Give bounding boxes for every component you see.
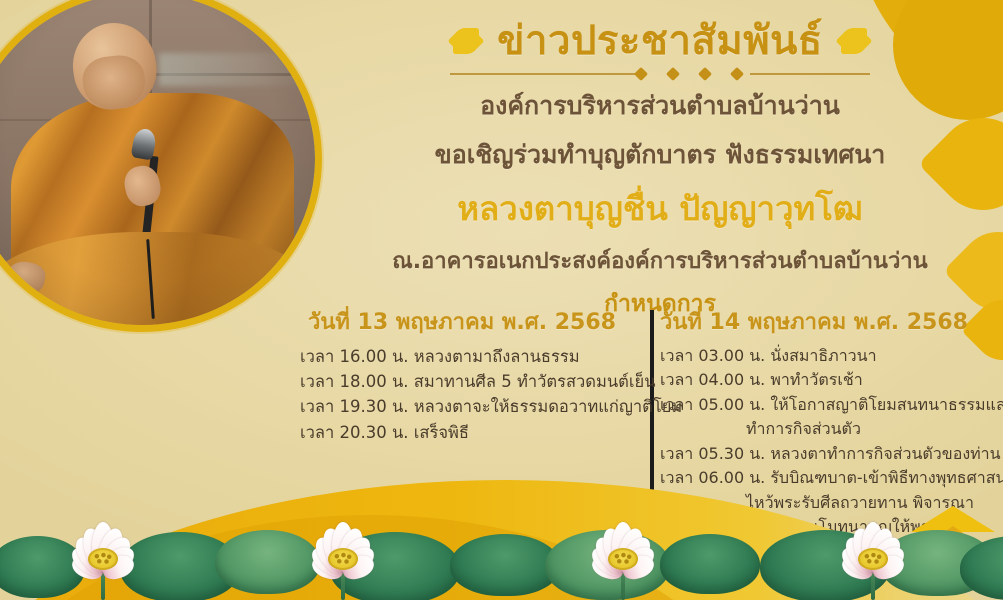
divider-diamond xyxy=(698,67,712,81)
flower-ornament-icon-left xyxy=(451,26,481,56)
schedule-item: เวลา 05.00 น. ให้โอกาสญาติโยมสนทนาธรรมแล… xyxy=(660,393,1000,417)
lotus-flower xyxy=(300,504,386,578)
lotus-flower xyxy=(60,504,146,578)
poster-header: ข่าวประชาสัมพันธ์ องค์การบริหารส่วนตำบลบ… xyxy=(330,18,990,322)
venue-text: ณ.อาคารอเนกประสงค์องค์การบริหารส่วนตำบลบ… xyxy=(330,246,990,277)
divider-diamond xyxy=(634,67,648,81)
schedule-item: เวลา 20.30 น. เสร็จพิธี xyxy=(300,420,645,445)
lotus-seed-pod xyxy=(88,548,118,570)
schedule-item: เวลา 18.00 น. สมาทานศีล 5 ทำวัตรสวดมนต์เ… xyxy=(300,369,645,394)
monk-name: หลวงตาบุญชื่น ปัญญาวุทโฒ xyxy=(330,182,990,235)
schedule-item: เวลา 19.30 น. หลวงตาจะให้ธรรมดอวาทแก่ญาต… xyxy=(300,394,645,419)
schedule-item: เวลา 05.30 น. หลวงตาทำการกิจส่วนตัวของท่… xyxy=(660,442,1000,466)
flower-ornament-icon-right xyxy=(839,26,869,56)
lotus-flower xyxy=(830,504,916,578)
organization-name: องค์การบริหารส่วนตำบลบ้านว่าน xyxy=(330,88,990,124)
invitation-text: ขอเชิญร่วมทำบุญตักบาตร ฟังธรรมเทศนา xyxy=(330,137,990,173)
lotus-leaf xyxy=(660,534,760,594)
announcement-poster: ข่าวประชาสัมพันธ์ องค์การบริหารส่วนตำบลบ… xyxy=(0,0,1003,600)
lotus-seed-pod xyxy=(328,548,358,570)
schedule-item: เวลา 03.00 น. นั่งสมาธิภาวนา xyxy=(660,344,1000,368)
schedule-date-day1: วันที่ 13 พฤษภาคม พ.ศ. 2568 xyxy=(300,304,645,339)
lotus-leaf xyxy=(450,534,560,596)
schedule-date-day2: วันที่ 14 พฤษภาคม พ.ศ. 2568 xyxy=(660,304,1000,339)
lotus-flower xyxy=(580,504,666,578)
title-divider-ornament xyxy=(450,68,870,82)
divider-diamond xyxy=(730,67,744,81)
lotus-seed-pod xyxy=(858,548,888,570)
schedule-list-day1: เวลา 16.00 น. หลวงตามาถึงลานธรรมเวลา 18.… xyxy=(300,344,645,445)
divider-diamond xyxy=(666,67,680,81)
schedule-column-day1: วันที่ 13 พฤษภาคม พ.ศ. 2568 เวลา 16.00 น… xyxy=(300,304,645,445)
monk-portrait xyxy=(0,0,322,332)
lotus-seed-pod xyxy=(608,548,638,570)
schedule-item: เวลา 16.00 น. หลวงตามาถึงลานธรรม xyxy=(300,344,645,369)
page-title: ข่าวประชาสัมพันธ์ xyxy=(497,18,823,64)
title-row: ข่าวประชาสัมพันธ์ xyxy=(330,18,990,64)
lotus-border xyxy=(0,480,1003,600)
schedule-item: เวลา 04.00 น. พาทำวัตรเช้า xyxy=(660,368,1000,392)
divider-line-left xyxy=(450,73,640,75)
divider-line-right xyxy=(750,73,870,75)
schedule-item: ทำการกิจส่วนตัว xyxy=(660,417,1000,441)
